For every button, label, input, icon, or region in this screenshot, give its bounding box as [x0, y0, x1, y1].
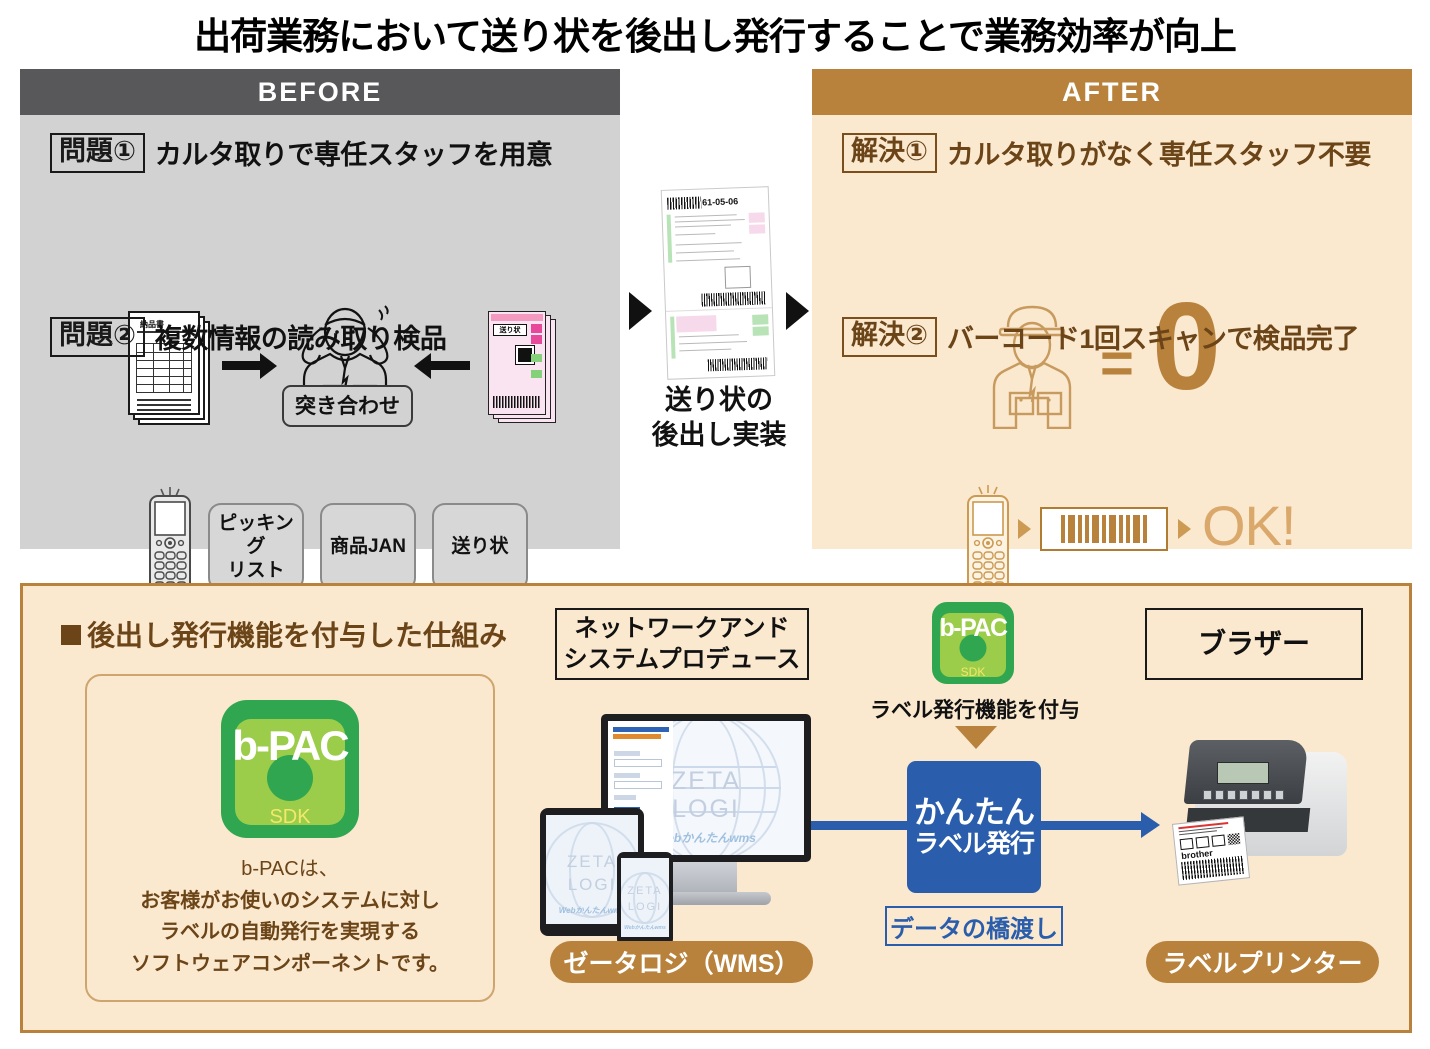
- arrow-to-printer-icon: [1141, 812, 1160, 838]
- handheld-scanner-icon: [142, 487, 198, 595]
- small-triangle-icon-1: [1018, 519, 1031, 539]
- bpac-small-logo-icon: b-PAC SDK: [932, 602, 1014, 684]
- system-diagram-panel: 後出し発行機能を付与した仕組み b-PAC SDK b-PACは、 お客様がお使…: [20, 583, 1412, 1033]
- after-panel: AFTER 解決① カルタ取りがなく専任スタッフ不要: [812, 69, 1412, 549]
- shipping-label-code: 61-05-06: [702, 196, 738, 207]
- bpac-desc-line2: お客様がお使いのシステムに対し: [87, 886, 493, 918]
- section-title-text: 後出し発行機能を付与した仕組み: [87, 620, 507, 651]
- bpac-logo-text: b-PAC: [221, 722, 359, 770]
- solution-1-heading: 解決① カルタ取りがなく専任スタッフ不要: [842, 133, 1371, 173]
- center-caption: 送り状の 後出し実装: [626, 383, 812, 453]
- bullet-square-icon: [61, 625, 81, 645]
- barcode-icon: [1040, 507, 1168, 551]
- wms-pill-label: ゼータロジ（WMS）: [550, 941, 813, 983]
- small-triangle-icon-2: [1178, 519, 1191, 539]
- bpac-logo-sub: SDK: [221, 806, 359, 829]
- brother-label-box: ブラザー: [1145, 608, 1363, 680]
- nsp-label-box: ネットワークアンド システムプロデュース: [555, 608, 809, 680]
- nsp-label-text: ネットワークアンド システムプロデュース: [564, 613, 801, 675]
- bpac-desc-line1: b-PACは、: [87, 854, 493, 886]
- shipping-label-image: 61-05-06: [661, 186, 776, 380]
- solution-2-heading: 解決② バーコード1回スキャンで検品完了: [842, 317, 1359, 357]
- before-body: 問題① カルタ取りで専任スタッフを用意 納品書: [20, 115, 620, 549]
- bpac-small-sub: SDK: [932, 665, 1014, 679]
- bpac-desc-line4: ソフトウェアコンポーネントです。: [87, 949, 493, 981]
- problem-2-text: 複数情報の読み取り検品: [155, 317, 447, 356]
- chip-label: 商品JAN: [330, 535, 406, 558]
- center-caption-line1: 送り状の: [626, 383, 812, 418]
- solution-2-text: バーコード1回スキャンで検品完了: [947, 317, 1359, 356]
- label-printer-image: brother: [1169, 716, 1359, 884]
- monitor-stand: [671, 862, 737, 894]
- give-function-label: ラベル発行機能を付与: [866, 694, 1084, 724]
- left-triangle-icon: [629, 292, 652, 330]
- solution-2-tag: 解決②: [842, 317, 937, 357]
- problem-1-text: カルタ取りで専任スタッフを用意: [155, 133, 553, 172]
- phone-sub: Webかんたんwms: [621, 924, 669, 931]
- bpac-description: b-PACは、 お客様がお使いのシステムに対し ラベルの自動発行を実現する ソフ…: [87, 854, 493, 980]
- right-triangle-icon: [786, 292, 809, 330]
- bpac-small-text: b-PAC: [932, 614, 1014, 643]
- printer-buttons: [1203, 790, 1284, 800]
- problem-1-tag: 問題①: [50, 133, 145, 173]
- easy-label-box: かんたん ラベル発行: [907, 761, 1041, 893]
- info-chip-invoice: 送り状: [432, 503, 528, 591]
- connector-blue-to-printer: [1041, 821, 1143, 830]
- handheld-scanner-icon-after: [960, 485, 1016, 595]
- center-caption-line2: 後出し実装: [626, 418, 812, 453]
- info-chip-picking-list: ピッキング リスト: [208, 503, 304, 591]
- chip-label: ピッキング リスト: [210, 512, 302, 582]
- page-title: 出荷業務において送り状を後出し発行することで業務効率が向上: [0, 6, 1430, 60]
- before-panel: BEFORE 問題① カルタ取りで専任スタッフを用意 納品書: [20, 69, 620, 549]
- problem-1-heading: 問題① カルタ取りで専任スタッフを用意: [50, 133, 552, 173]
- phone-brand-2: LOGI: [621, 901, 669, 913]
- bpac-logo-icon: b-PAC SDK: [221, 700, 359, 838]
- solution-1-text: カルタ取りがなく専任スタッフ不要: [947, 133, 1371, 172]
- phone-brand-1: ZETA: [621, 885, 669, 897]
- info-chip-product-jan: 商品JAN: [320, 503, 416, 591]
- after-body: 解決① カルタ取りがなく専任スタッフ不要: [812, 115, 1412, 549]
- connector-wms-to-blue: [811, 821, 907, 830]
- problem-2-tag: 問題②: [50, 317, 145, 357]
- easy-label-line2: ラベル発行: [914, 830, 1034, 858]
- problem-2-heading: 問題② 複数情報の読み取り検品: [50, 317, 446, 357]
- easy-label-line1: かんたん: [914, 796, 1034, 831]
- bpac-desc-line3: ラベルの自動発行を実現する: [87, 917, 493, 949]
- section-title: 後出し発行機能を付与した仕組み: [61, 614, 507, 654]
- printer-pill-label: ラベルプリンター: [1146, 941, 1379, 983]
- center-transition: 61-05-06 送り状の 後出し実装: [626, 180, 812, 480]
- bridge-label-box: データの橋渡し: [885, 906, 1063, 946]
- after-header: AFTER: [812, 69, 1412, 115]
- before-header: BEFORE: [20, 69, 620, 115]
- down-triangle-icon: [955, 726, 997, 749]
- printed-label: brother: [1172, 816, 1250, 885]
- match-label: 突き合わせ: [282, 385, 413, 427]
- ok-text: OK!: [1202, 493, 1295, 558]
- phone-device: ZETA LOGI Webかんたんwms: [617, 852, 673, 946]
- chip-label: 送り状: [451, 535, 508, 558]
- solution-1-tag: 解決①: [842, 133, 937, 173]
- infographic-page: 出荷業務において送り状を後出し発行することで業務効率が向上 BEFORE 問題①…: [0, 0, 1430, 1049]
- bpac-card: b-PAC SDK b-PACは、 お客様がお使いのシステムに対し ラベルの自動…: [85, 674, 495, 1002]
